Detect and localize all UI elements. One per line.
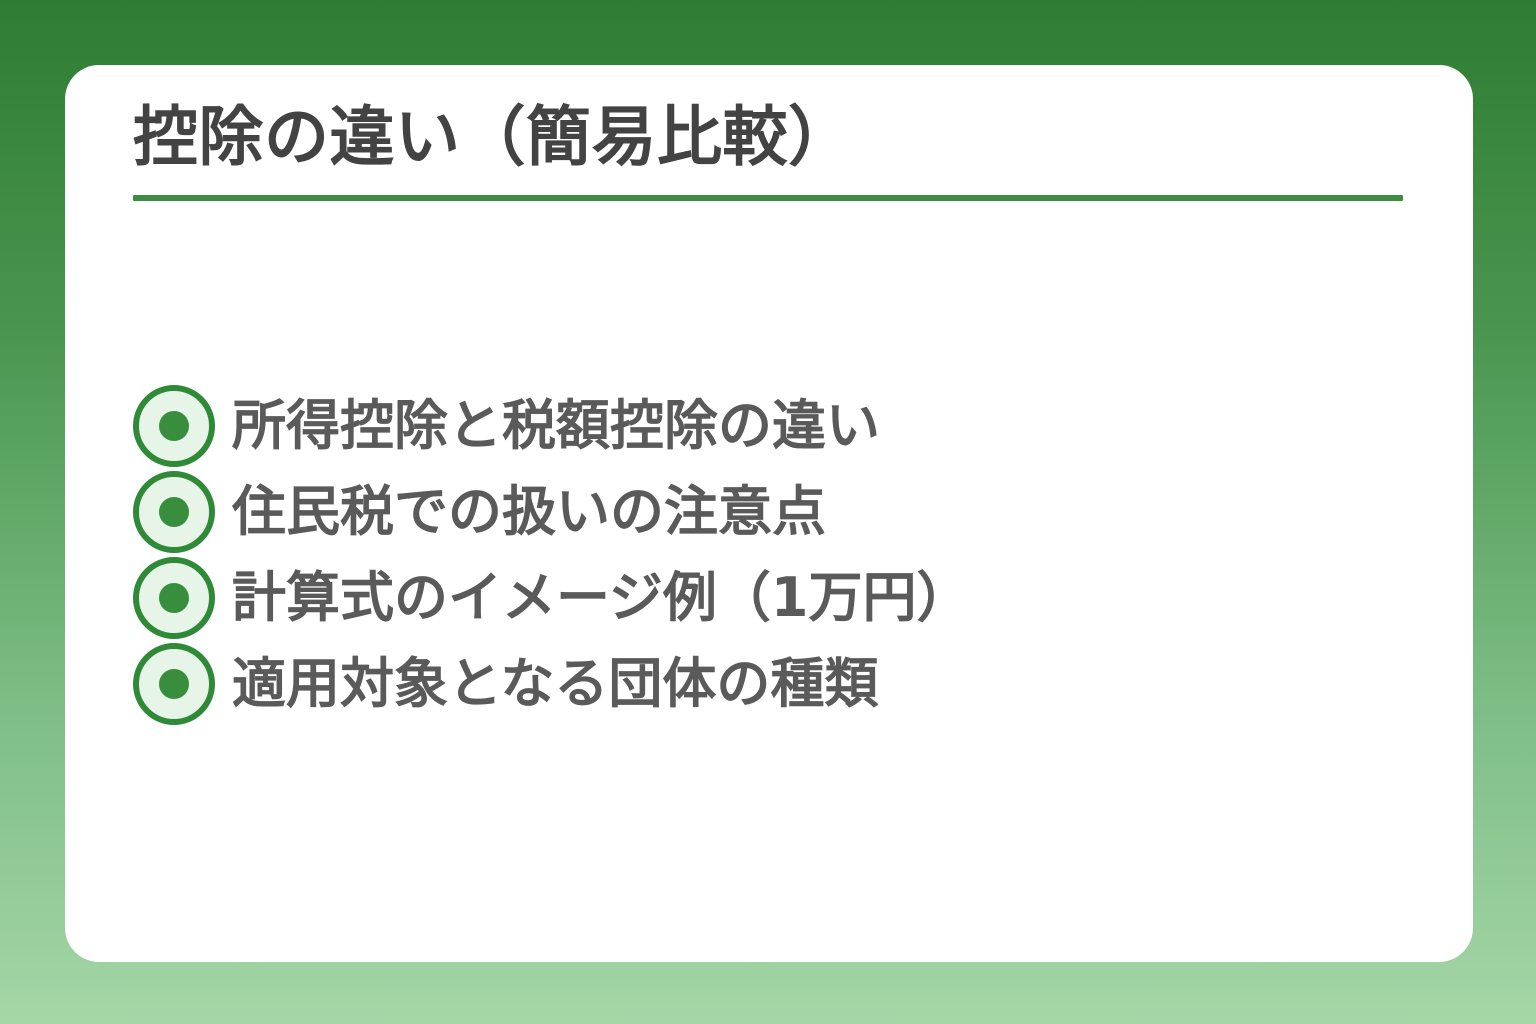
- bullet-dot-icon: [159, 583, 189, 613]
- bullet-list: 所得控除と税額控除の違い 住民税での扱いの注意点 計算式のイメージ例（1万円） …: [133, 383, 1433, 727]
- bullet-dot-icon: [159, 497, 189, 527]
- list-item: 適用対象となる団体の種類: [133, 641, 1433, 727]
- filled-circle-bullet-icon: [133, 471, 215, 553]
- filled-circle-bullet-icon: [133, 557, 215, 639]
- list-item: 所得控除と税額控除の違い: [133, 383, 1433, 469]
- bullet-dot-icon: [159, 411, 189, 441]
- filled-circle-bullet-icon: [133, 643, 215, 725]
- title-block: 控除の違い（簡易比較）: [133, 103, 1405, 201]
- list-item-label: 所得控除と税額控除の違い: [232, 399, 880, 453]
- page-title: 控除の違い（簡易比較）: [133, 103, 1405, 173]
- bullet-dot-icon: [159, 669, 189, 699]
- slide-canvas: 控除の違い（簡易比較） 所得控除と税額控除の違い 住民税での扱いの注意点: [0, 0, 1536, 1024]
- list-item-label: 計算式のイメージ例（1万円）: [232, 571, 971, 625]
- list-item: 住民税での扱いの注意点: [133, 469, 1433, 555]
- slide-card: 控除の違い（簡易比較） 所得控除と税額控除の違い 住民税での扱いの注意点: [65, 65, 1473, 962]
- title-divider: [133, 195, 1403, 201]
- filled-circle-bullet-icon: [133, 385, 215, 467]
- list-item-label: 適用対象となる団体の種類: [232, 657, 878, 711]
- list-item-label: 住民税での扱いの注意点: [232, 485, 826, 539]
- list-item: 計算式のイメージ例（1万円）: [133, 555, 1433, 641]
